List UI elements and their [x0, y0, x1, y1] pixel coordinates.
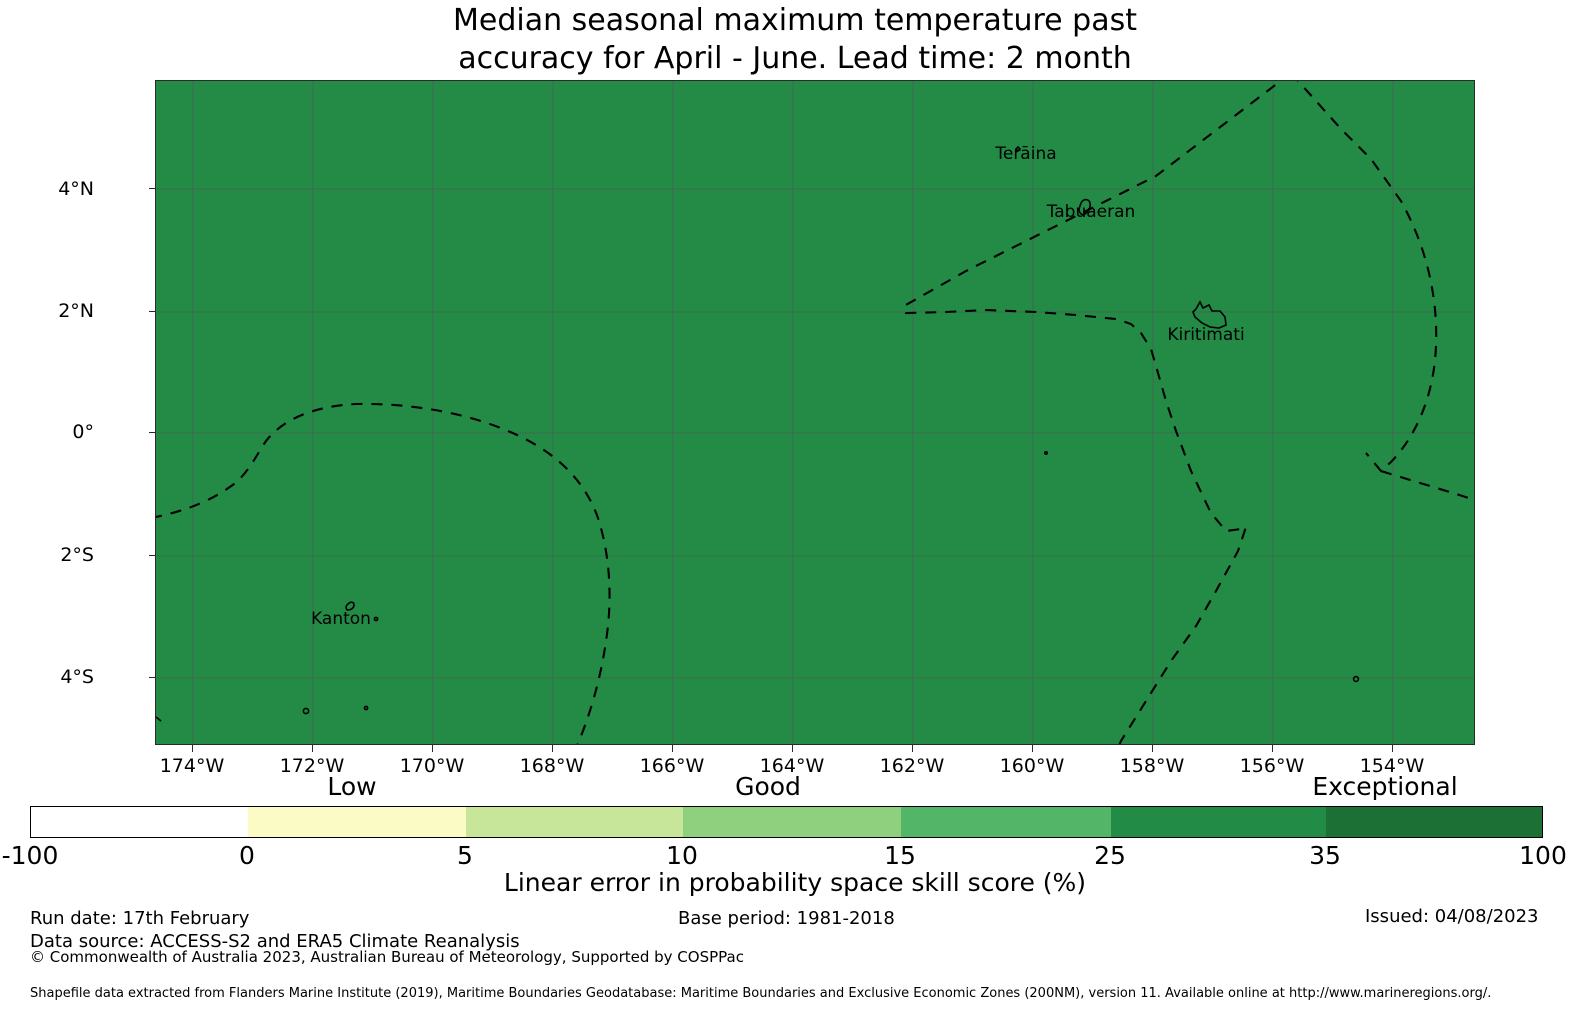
footer-run-date: Run date: 17th February	[30, 908, 249, 929]
colorbar-segment-3	[683, 807, 901, 837]
colorbar-segment-6	[1326, 807, 1542, 837]
x-tick-168w: 168°W	[492, 755, 612, 777]
y-tick-0: 0°	[0, 421, 94, 443]
y-tick-2s: 2°S	[0, 544, 94, 566]
colorbar-segment-0	[31, 807, 248, 837]
x-tickmark	[312, 745, 313, 752]
footer-base-period: Base period: 1981-2018	[678, 908, 895, 929]
x-tick-158w: 158°W	[1092, 755, 1212, 777]
colorbar-category-good: Good	[618, 772, 918, 801]
x-tick-160w: 160°W	[972, 755, 1092, 777]
footer-shapefile: Shapefile data extracted from Flanders M…	[30, 986, 1491, 1001]
x-tickmark	[432, 745, 433, 752]
colorbar-tick-15: 15	[820, 841, 980, 870]
eez-boundary-lines	[156, 81, 1475, 745]
footer-copyright: © Commonwealth of Australia 2023, Austra…	[30, 948, 744, 966]
x-tickmark	[192, 745, 193, 752]
y-tickmark	[149, 432, 156, 433]
page-title: Median seasonal maximum temperature past…	[0, 2, 1590, 78]
y-tickmark	[149, 555, 156, 556]
colorbar-tick-5: 5	[385, 841, 545, 870]
colorbar-tick-100: 100	[1463, 841, 1590, 870]
colorbar-tick-35: 35	[1245, 841, 1405, 870]
colorbar-category-exceptional: Exceptional	[1235, 772, 1535, 801]
colorbar-segment-2	[466, 807, 683, 837]
y-tickmark	[149, 311, 156, 312]
x-tickmark	[792, 745, 793, 752]
colorbar-axis-label: Linear error in probability space skill …	[0, 868, 1590, 897]
island-label-teraina: Terāina	[994, 144, 1056, 164]
colorbar-tick-25: 25	[1030, 841, 1190, 870]
y-tickmark	[149, 677, 156, 678]
map-plot-area: Terāina Tabuaeran Kiritimati Kanton	[155, 80, 1475, 745]
colorbar-tick-0: 0	[167, 841, 327, 870]
x-tickmark	[1272, 745, 1273, 752]
island-label-tabuaeran: Tabuaeran	[1046, 202, 1136, 222]
colorbar[interactable]	[30, 806, 1543, 838]
colorbar-tick-10: 10	[602, 841, 762, 870]
colorbar-segment-5	[1111, 807, 1326, 837]
y-tick-2n: 2°N	[0, 300, 94, 322]
map-gridlines	[156, 81, 1475, 745]
x-tickmark	[912, 745, 913, 752]
colorbar-category-low: Low	[202, 772, 502, 801]
y-tick-4s: 4°S	[0, 666, 94, 688]
x-tickmark	[1032, 745, 1033, 752]
x-tickmark	[552, 745, 553, 752]
y-tickmark	[149, 188, 156, 189]
y-tick-4n: 4°N	[0, 178, 94, 200]
x-tickmark	[672, 745, 673, 752]
x-tickmark	[1392, 745, 1393, 752]
footer-issued: Issued: 04/08/2023	[1365, 906, 1539, 927]
island-label-kiritimati: Kiritimati	[1167, 325, 1244, 345]
colorbar-tick--100: -100	[0, 841, 110, 870]
colorbar-segment-4	[901, 807, 1111, 837]
x-tickmark	[1152, 745, 1153, 752]
island-label-kanton: Kanton	[311, 609, 371, 629]
colorbar-segment-1	[248, 807, 466, 837]
map-svg: Terāina Tabuaeran Kiritimati Kanton	[156, 81, 1475, 745]
